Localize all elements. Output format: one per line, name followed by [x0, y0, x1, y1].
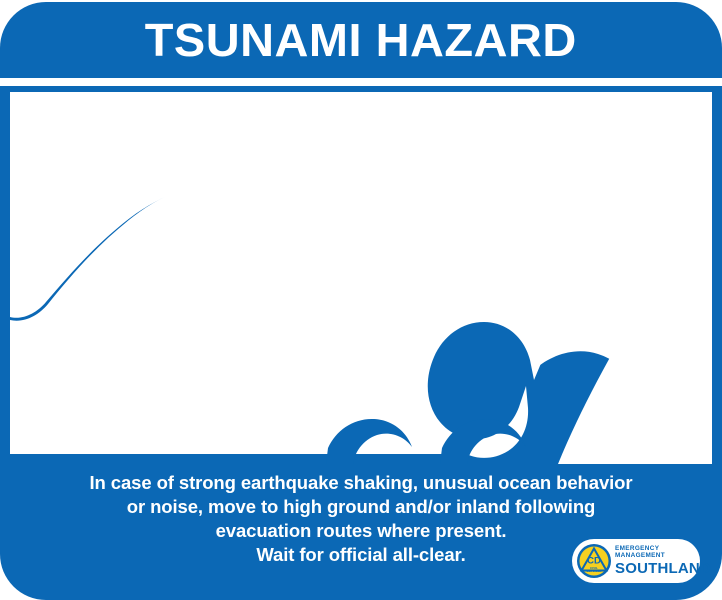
- sign-header: TSUNAMI HAZARD: [0, 2, 722, 78]
- logo-text-block: EMERGENCY MANAGEMENT SOUTHLAND: [615, 546, 711, 576]
- agency-logo: CD CIVIL DEFENCE EMERGENCY MANAGEMENT SO…: [572, 539, 700, 583]
- page-title: TSUNAMI HAZARD: [145, 17, 577, 63]
- instruction-line: In case of strong earthquake shaking, un…: [12, 471, 710, 495]
- tsunami-wave-icon: [10, 92, 712, 464]
- logo-tagline: EMERGENCY MANAGEMENT: [615, 546, 711, 559]
- illustration-panel: ZONE: [8, 90, 714, 466]
- logo-name: SOUTHLAND: [615, 561, 711, 576]
- civil-defence-badge-icon: CD CIVIL DEFENCE: [576, 543, 612, 579]
- instruction-line: or noise, move to high ground and/or inl…: [12, 495, 710, 519]
- svg-text:DEFENCE: DEFENCE: [587, 569, 602, 573]
- tsunami-hazard-sign: TSUNAMI HAZARD: [0, 0, 722, 600]
- sign-body: ZONE In case of strong earthquake shakin…: [0, 86, 722, 600]
